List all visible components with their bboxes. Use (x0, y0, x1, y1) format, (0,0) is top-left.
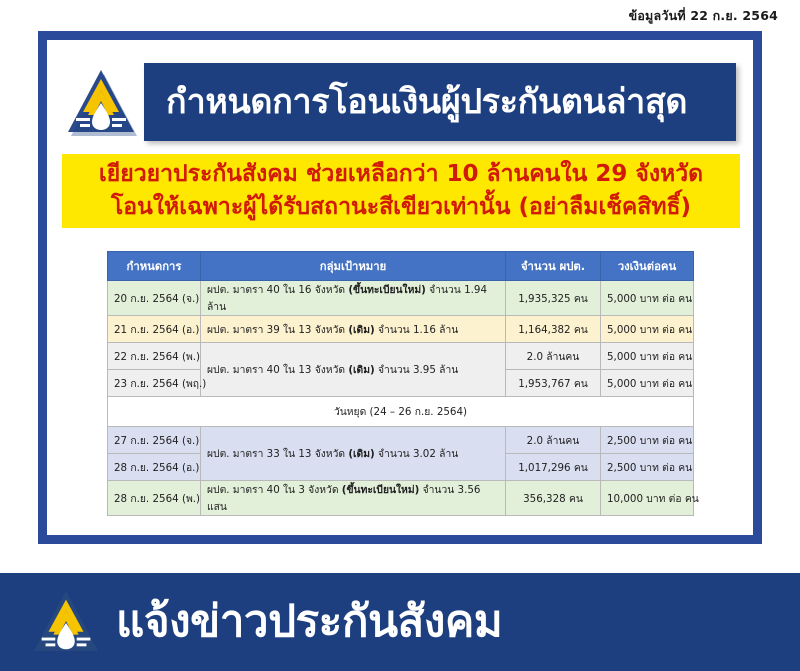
highlight-line-2: โอนให้เฉพาะผู้ได้รับสถานะสีเขียวเท่านั้น… (111, 191, 691, 224)
cell-target-group: ผปต. มาตรา 39 ใน 13 จังหวัด (เดิม) จำนวน… (201, 316, 506, 343)
table-row: 21 ก.ย. 2564 (อ.)ผปต. มาตรา 39 ใน 13 จัง… (108, 316, 694, 343)
cell-schedule-date: 28 ก.ย. 2564 (พ.) (108, 481, 201, 516)
cell-schedule-date: 21 ก.ย. 2564 (อ.) (108, 316, 201, 343)
cell-amount-per-person: 2,500 บาท ต่อ คน (601, 427, 694, 454)
table-row: 28 ก.ย. 2564 (พ.)ผปต. มาตรา 40 ใน 3 จังห… (108, 481, 694, 516)
cell-insured-count: 2.0 ล้านคน (506, 343, 601, 370)
sso-triangle-logo-icon (30, 583, 102, 661)
data-date-stamp: ข้อมูลวันที่ 22 ก.ย. 2564 (629, 6, 778, 26)
cell-schedule-date: 23 ก.ย. 2564 (พฤ.) (108, 370, 201, 397)
cell-insured-count: 1,953,767 คน (506, 370, 601, 397)
cell-amount-per-person: 5,000 บาท ต่อ คน (601, 343, 694, 370)
cell-schedule-date: 22 ก.ย. 2564 (พ.) (108, 343, 201, 370)
schedule-table-wrapper: กำหนดการ กลุ่มเป้าหมาย จำนวน ผปต. วงเงิน… (107, 251, 693, 516)
footer-title: แจ้งข่าวประกันสังคม (116, 600, 502, 644)
holiday-label: วันหยุด (24 – 26 ก.ย. 2564) (108, 397, 694, 427)
highlight-callout: เยียวยาประกันสังคม ช่วยเหลือกว่า 10 ล้าน… (62, 154, 740, 228)
cell-target-group: ผปต. มาตรา 40 ใน 3 จังหวัด (ขึ้นทะเบียนใ… (201, 481, 506, 516)
cell-schedule-date: 27 ก.ย. 2564 (จ.) (108, 427, 201, 454)
cell-schedule-date: 20 ก.ย. 2564 (จ.) (108, 281, 201, 316)
cell-insured-count: 1,164,382 คน (506, 316, 601, 343)
schedule-table-body: 20 ก.ย. 2564 (จ.)ผปต. มาตรา 40 ใน 16 จัง… (108, 281, 694, 516)
header-band: กำหนดการโอนเงินผู้ประกันตนล่าสุด (144, 63, 736, 141)
schedule-table: กำหนดการ กลุ่มเป้าหมาย จำนวน ผปต. วงเงิน… (107, 251, 694, 516)
column-header-count: จำนวน ผปต. (506, 252, 601, 281)
cell-amount-per-person: 10,000 บาท ต่อ คน (601, 481, 694, 516)
cell-amount-per-person: 5,000 บาท ต่อ คน (601, 370, 694, 397)
page-title: กำหนดการโอนเงินผู้ประกันตนล่าสุด (166, 85, 687, 119)
table-row: 27 ก.ย. 2564 (จ.)ผปต. มาตรา 33 ใน 13 จัง… (108, 427, 694, 454)
highlight-line-1: เยียวยาประกันสังคม ช่วยเหลือกว่า 10 ล้าน… (99, 158, 703, 191)
cell-insured-count: 1,935,325 คน (506, 281, 601, 316)
column-header-target: กลุ่มเป้าหมาย (201, 252, 506, 281)
table-row: 22 ก.ย. 2564 (พ.)ผปต. มาตรา 40 ใน 13 จัง… (108, 343, 694, 370)
cell-schedule-date: 28 ก.ย. 2564 (อ.) (108, 454, 201, 481)
table-row: 20 ก.ย. 2564 (จ.)ผปต. มาตรา 40 ใน 16 จัง… (108, 281, 694, 316)
column-header-schedule: กำหนดการ (108, 252, 201, 281)
column-header-amount: วงเงินต่อคน (601, 252, 694, 281)
sso-triangle-logo-icon (64, 62, 138, 142)
cell-target-group: ผปต. มาตรา 33 ใน 13 จังหวัด (เดิม) จำนวน… (201, 427, 506, 481)
cell-amount-per-person: 2,500 บาท ต่อ คน (601, 454, 694, 481)
cell-insured-count: 2.0 ล้านคน (506, 427, 601, 454)
cell-amount-per-person: 5,000 บาท ต่อ คน (601, 281, 694, 316)
table-row-holiday: วันหยุด (24 – 26 ก.ย. 2564) (108, 397, 694, 427)
cell-target-group: ผปต. มาตรา 40 ใน 16 จังหวัด (ขึ้นทะเบียน… (201, 281, 506, 316)
header-row: กำหนดการโอนเงินผู้ประกันตนล่าสุด (64, 58, 736, 146)
cell-target-group: ผปต. มาตรา 40 ใน 13 จังหวัด (เดิม) จำนวน… (201, 343, 506, 397)
footer-banner: แจ้งข่าวประกันสังคม (0, 573, 800, 671)
cell-insured-count: 1,017,296 คน (506, 454, 601, 481)
cell-insured-count: 356,328 คน (506, 481, 601, 516)
table-header-row: กำหนดการ กลุ่มเป้าหมาย จำนวน ผปต. วงเงิน… (108, 252, 694, 281)
cell-amount-per-person: 5,000 บาท ต่อ คน (601, 316, 694, 343)
